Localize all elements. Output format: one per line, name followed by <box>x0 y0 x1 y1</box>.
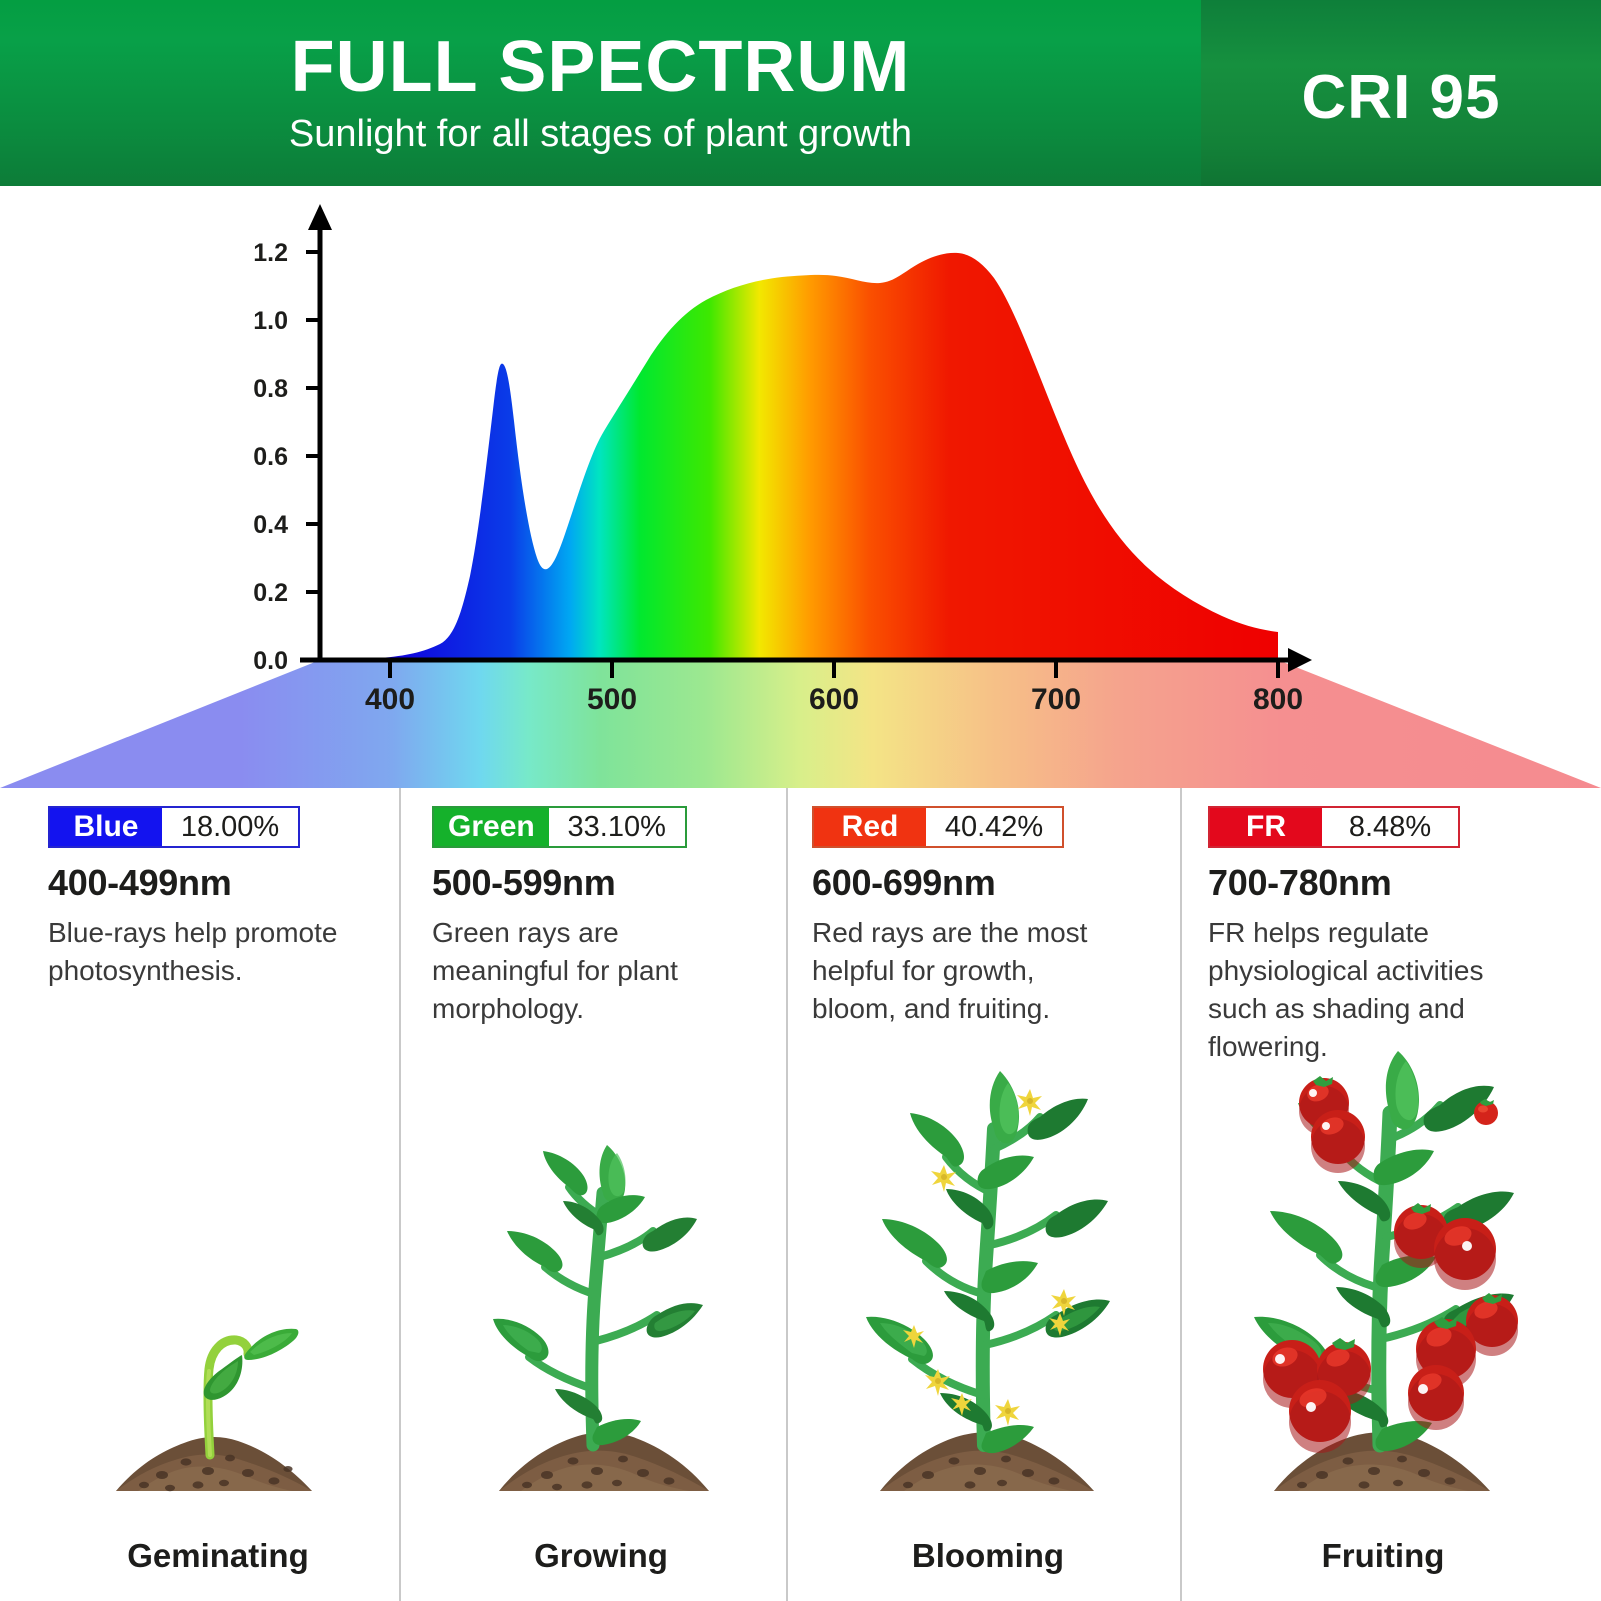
light-beam <box>0 660 1601 788</box>
y-tick-label: 0.6 <box>218 443 288 472</box>
y-tick-label: 1.2 <box>218 239 288 268</box>
wavelength-range: 700-780nm <box>1208 862 1391 904</box>
y-tick-label: 0.8 <box>218 375 288 404</box>
plant-illustration-seedling-sprout <box>48 1039 388 1509</box>
y-tick-label: 0.0 <box>218 647 288 676</box>
column-divider <box>1180 788 1182 1601</box>
wavelength-range: 400-499nm <box>48 862 231 904</box>
status-badge: Blue 18.00% <box>48 806 300 848</box>
stage-label: Geminating <box>48 1537 388 1575</box>
plant-illustration-young-tomato-plant <box>432 1039 770 1509</box>
band-column-blue: Blue 18.00% 400-499nm Blue-rays help pro… <box>48 788 388 1601</box>
badge-band-label: Red <box>814 808 926 846</box>
plant-illustration-fruiting-tomato-plant <box>1208 1039 1558 1509</box>
badge-percent-label: 18.00% <box>162 808 298 846</box>
y-tick-label: 1.0 <box>218 307 288 336</box>
spectral-power-curve <box>320 253 1278 660</box>
x-axis-arrow <box>1288 648 1312 672</box>
infographic-page: FULL SPECTRUM Sunlight for all stages of… <box>0 0 1601 1601</box>
young-tomato-plant-icon <box>441 1089 761 1509</box>
column-divider <box>786 788 788 1601</box>
band-description: Red rays are the most helpful for growth… <box>812 914 1112 1028</box>
badge-band-label: FR <box>1210 808 1322 846</box>
badge-percent-label: 40.42% <box>926 808 1062 846</box>
status-badge: Red 40.42% <box>812 806 1064 848</box>
fruiting-tomato-plant-icon <box>1208 1039 1558 1509</box>
y-tick-label: 0.2 <box>218 579 288 608</box>
x-tick-label: 500 <box>567 683 657 717</box>
x-tick-label: 400 <box>345 683 435 717</box>
badge-percent-label: 8.48% <box>1322 808 1458 846</box>
badge-band-label: Green <box>434 808 549 846</box>
stage-label: Fruiting <box>1208 1537 1558 1575</box>
page-title: FULL SPECTRUM <box>0 28 1201 106</box>
wavelength-range: 500-599nm <box>432 862 615 904</box>
x-tick-label: 800 <box>1233 683 1323 717</box>
band-column-fr: FR 8.48% 700-780nm FR helps regulate phy… <box>1208 788 1558 1601</box>
stage-label: Growing <box>432 1537 770 1575</box>
y-axis-arrow <box>308 204 332 230</box>
stage-label: Blooming <box>812 1537 1164 1575</box>
band-column-red: Red 40.42% 600-699nm Red rays are the mo… <box>812 788 1164 1601</box>
wavelength-range: 600-699nm <box>812 862 995 904</box>
flowering-tomato-plant-icon <box>818 1039 1158 1509</box>
seedling-sprout-icon <box>78 1259 358 1509</box>
soil-mound <box>116 1437 312 1491</box>
cri-value: CRI 95 <box>1201 62 1601 133</box>
spectrum-chart: 0.0 0.2 0.4 0.6 0.8 1.0 1.2 400 500 600 … <box>0 186 1601 788</box>
band-description: Green rays are meaningful for plant morp… <box>432 914 752 1028</box>
column-divider <box>399 788 401 1601</box>
x-tick-label: 700 <box>1011 683 1101 717</box>
badge-band-label: Blue <box>50 808 162 846</box>
page-subtitle: Sunlight for all stages of plant growth <box>0 112 1201 156</box>
status-badge: Green 33.10% <box>432 806 687 848</box>
plant-illustration-flowering-tomato-plant <box>812 1039 1164 1509</box>
band-column-green: Green 33.10% 500-599nm Green rays are me… <box>432 788 770 1601</box>
y-tick-label: 0.4 <box>218 511 288 540</box>
badge-percent-label: 33.10% <box>549 808 685 846</box>
header-banner: FULL SPECTRUM Sunlight for all stages of… <box>0 0 1601 186</box>
x-tick-label: 600 <box>789 683 879 717</box>
status-badge: FR 8.48% <box>1208 806 1460 848</box>
band-description: Blue-rays help promote photosynthesis. <box>48 914 368 990</box>
band-columns: Blue 18.00% 400-499nm Blue-rays help pro… <box>0 788 1601 1601</box>
